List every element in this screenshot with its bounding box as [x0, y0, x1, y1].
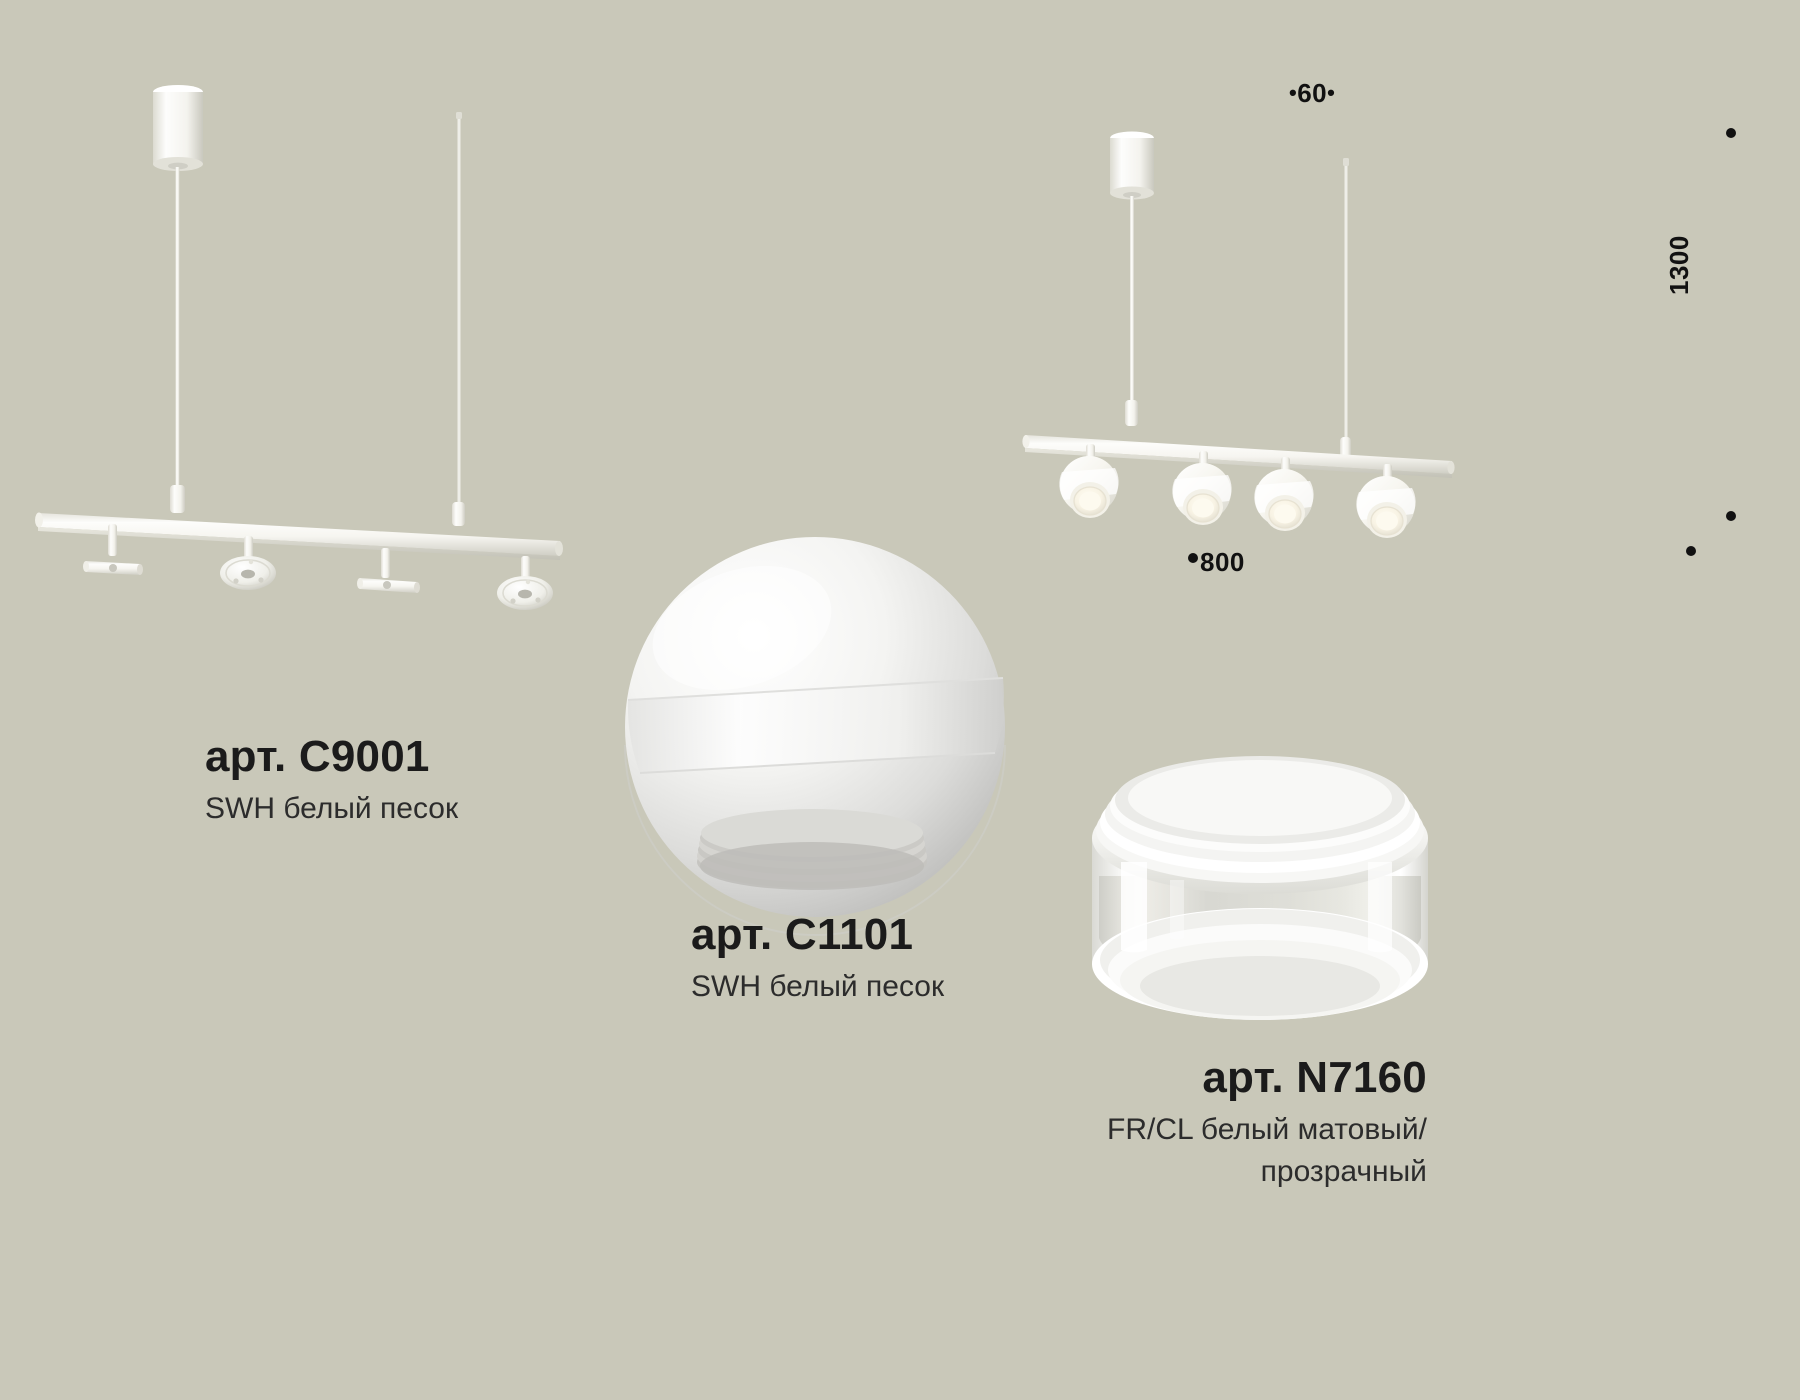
- c1101-bottom-aperture: [697, 809, 927, 890]
- product-finish-c1101: SWH белый песок: [691, 967, 944, 1007]
- c9001-joint-right: [452, 502, 465, 526]
- assembly-dimensioned-artwork: [1022, 128, 1736, 563]
- dimension-label-1300: 1300: [1664, 235, 1695, 295]
- product-n7160-artwork: [1092, 756, 1428, 1020]
- product-finish-c9001: SWH белый песок: [205, 789, 458, 829]
- c9001-joint-left: [170, 485, 185, 513]
- assembly-cable-right: [1345, 165, 1348, 450]
- dimension-value-1300: 1300: [1664, 235, 1694, 295]
- c9001-head-2: [220, 536, 276, 590]
- c9001-head-4: [497, 556, 553, 610]
- c9001-cable-right: [458, 112, 461, 512]
- product-label-c9001: арт. C9001 SWH белый песок: [205, 735, 458, 829]
- dimension-label-800: 800: [1200, 547, 1245, 578]
- product-art-code-c1101: арт. C1101: [691, 913, 944, 957]
- product-composition-canvas: арт. C9001 SWH белый песок арт. C1101 SW…: [0, 0, 1800, 1400]
- dimension-marker-right-icon: •: [1327, 80, 1335, 105]
- product-finish-n7160-line2: прозрачный: [1107, 1152, 1427, 1192]
- product-art-code-c9001: арт. C9001: [205, 735, 458, 779]
- c9001-canopy: [153, 85, 203, 171]
- assembly-canopy: [1110, 132, 1154, 200]
- dimension-label-60: •60•: [1289, 78, 1335, 109]
- product-c9001-artwork: [35, 85, 563, 610]
- dimension-marker-left-icon: •: [1289, 80, 1297, 105]
- composition-artwork: [0, 0, 1800, 1400]
- dimension-value-60: 60: [1297, 78, 1327, 108]
- product-label-n7160: арт. N7160 FR/CL белый матовый/ прозрачн…: [1107, 1056, 1427, 1191]
- assembly-cable-left: [1130, 196, 1134, 416]
- c9001-head-3: [357, 548, 420, 593]
- c9001-cable-left: [176, 167, 180, 493]
- product-label-c1101: арт. C1101 SWH белый песок: [691, 913, 944, 1007]
- product-finish-n7160-line1: FR/CL белый матовый/: [1107, 1110, 1427, 1150]
- product-art-code-n7160: арт. N7160: [1107, 1056, 1427, 1100]
- dimension-value-800: 800: [1200, 547, 1245, 577]
- product-c1101-artwork: [625, 537, 1005, 935]
